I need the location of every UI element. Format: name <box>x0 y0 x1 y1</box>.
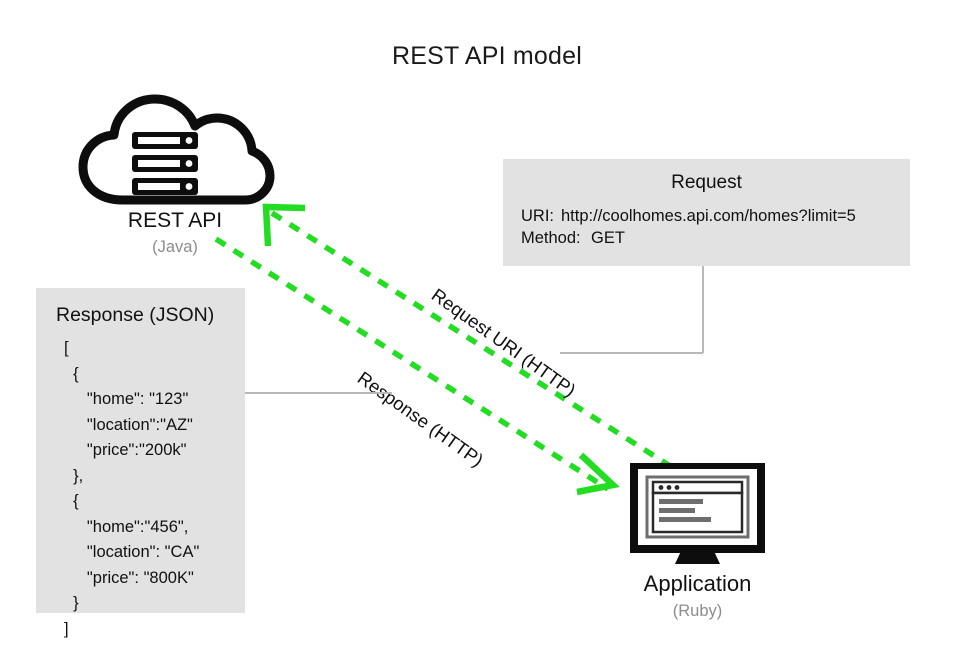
application-label: Application <box>610 571 785 597</box>
response-leader-horizontal <box>245 392 392 394</box>
response-arrow-label: Response (HTTP) <box>353 367 487 471</box>
request-arrow-label: Request URI (HTTP) <box>427 284 580 402</box>
application-node: Application (Ruby) <box>618 463 798 633</box>
request-leader-horizontal <box>560 352 703 354</box>
request-panel: Request URI:http://coolhomes.api.com/hom… <box>503 159 910 266</box>
rest-api-label: REST API <box>75 209 275 233</box>
request-uri-key: URI: <box>521 207 561 226</box>
diagram-canvas: REST API model Request URI (HTTP) Respon… <box>0 0 974 647</box>
request-method-value: GET <box>591 229 625 248</box>
rest-api-node: REST API (Java) <box>75 92 305 267</box>
response-panel: Response (JSON) [ { "home": "123" "locat… <box>36 288 245 613</box>
cloud-server-icon <box>75 92 275 212</box>
monitor-icon <box>630 463 765 568</box>
response-json-body: [ { "home": "123" "location":"AZ" "price… <box>64 336 199 642</box>
application-sublabel: (Ruby) <box>610 602 785 621</box>
request-method-key: Method: <box>521 229 591 248</box>
request-uri-row: URI:http://coolhomes.api.com/homes?limit… <box>521 207 856 226</box>
request-uri-value: http://coolhomes.api.com/homes?limit=5 <box>561 207 856 226</box>
request-panel-title: Request <box>503 172 910 194</box>
browser-window-icon <box>653 482 742 532</box>
request-method-row: Method:GET <box>521 229 625 248</box>
rest-api-sublabel: (Java) <box>75 238 275 257</box>
diagram-title: REST API model <box>0 42 974 71</box>
response-panel-title: Response (JSON) <box>56 304 214 327</box>
request-leader-vertical <box>702 266 704 353</box>
server-rack-icon <box>132 132 198 195</box>
